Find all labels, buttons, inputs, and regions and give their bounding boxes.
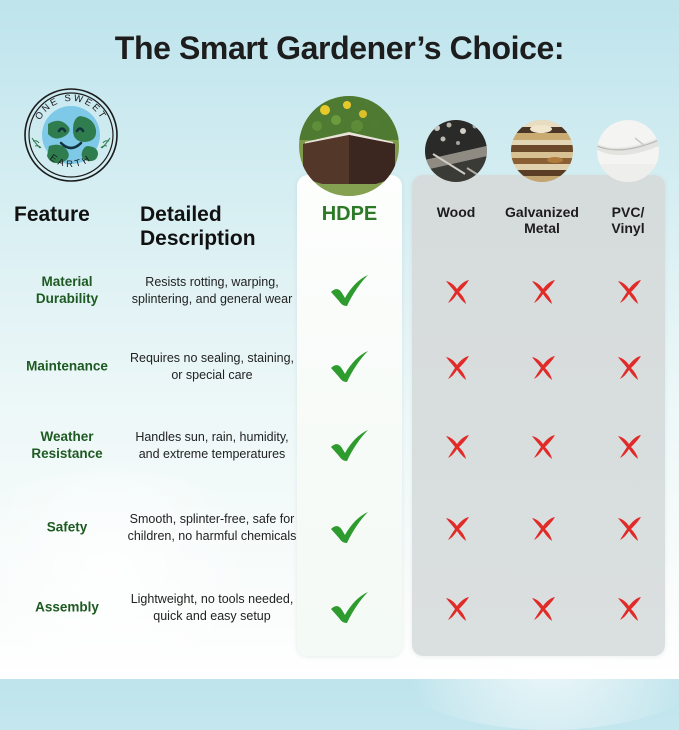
cross-icon — [614, 593, 644, 623]
column-header-hdpe: HDPE — [297, 203, 402, 226]
cell-metal-cross — [514, 431, 572, 461]
cell-wood-cross — [428, 593, 486, 623]
cross-icon — [614, 276, 644, 306]
cell-pvc-cross — [600, 431, 658, 461]
check-icon — [328, 590, 372, 626]
cross-icon — [528, 352, 558, 382]
check-icon — [328, 273, 372, 309]
row-description: Resists rotting, warping, splintering, a… — [126, 274, 298, 308]
check-icon — [328, 349, 372, 385]
pvc-vinyl-photo — [597, 120, 659, 182]
table-row: Weather ResistanceHandles sun, rain, hum… — [0, 410, 679, 482]
cross-icon — [442, 513, 472, 543]
table-row: SafetySmooth, splinter-free, safe for ch… — [0, 492, 679, 564]
cell-pvc-cross — [600, 593, 658, 623]
cross-icon — [528, 513, 558, 543]
column-header-galvanized-metal: Galvanized Metal — [499, 204, 585, 236]
cell-pvc-cross — [600, 352, 658, 382]
cross-icon — [528, 431, 558, 461]
row-feature-label: Maintenance — [8, 359, 126, 376]
cell-metal-cross — [514, 276, 572, 306]
cell-metal-cross — [514, 513, 572, 543]
cell-hdpe-check — [320, 428, 380, 464]
cell-metal-cross — [514, 352, 572, 382]
cell-hdpe-check — [320, 510, 380, 546]
infographic-canvas: The Smart Gardener’s Choice: ONE SWEET E… — [0, 0, 679, 679]
galvanized-rust-photo — [511, 120, 573, 182]
column-header-pvc-vinyl: PVC/ Vinyl — [585, 204, 671, 236]
row-feature-label: Weather Resistance — [8, 429, 126, 463]
cell-pvc-cross — [600, 513, 658, 543]
cross-icon — [442, 593, 472, 623]
cross-icon — [614, 513, 644, 543]
row-description: Handles sun, rain, humidity, and extreme… — [126, 429, 298, 463]
check-icon — [328, 510, 372, 546]
row-description: Requires no sealing, staining, or specia… — [126, 350, 298, 384]
row-feature-label: Safety — [8, 520, 126, 537]
cross-icon — [528, 593, 558, 623]
header-detailed-description: Detailed Description — [140, 203, 285, 250]
table-row: Material DurabilityResists rotting, warp… — [0, 255, 679, 327]
wood-rot-photo — [425, 120, 487, 182]
cross-icon — [614, 352, 644, 382]
cell-hdpe-check — [320, 349, 380, 385]
table-row: MaintenanceRequires no sealing, staining… — [0, 331, 679, 403]
brand-logo: ONE SWEET EARTH — [22, 86, 120, 184]
row-description: Lightweight, no tools needed, quick and … — [126, 591, 298, 625]
cell-hdpe-check — [320, 273, 380, 309]
page-title: The Smart Gardener’s Choice: — [0, 30, 679, 67]
cell-wood-cross — [428, 352, 486, 382]
check-icon — [328, 428, 372, 464]
cross-icon — [442, 352, 472, 382]
table-row: AssemblyLightweight, no tools needed, qu… — [0, 572, 679, 644]
row-description: Smooth, splinter-free, safe for children… — [126, 511, 298, 545]
cross-icon — [442, 276, 472, 306]
cell-metal-cross — [514, 593, 572, 623]
cell-wood-cross — [428, 276, 486, 306]
column-header-wood: Wood — [413, 204, 499, 220]
cell-wood-cross — [428, 513, 486, 543]
cell-hdpe-check — [320, 590, 380, 626]
cross-icon — [528, 276, 558, 306]
cell-wood-cross — [428, 431, 486, 461]
header-feature: Feature — [14, 203, 124, 227]
hdpe-planter-photo — [299, 96, 399, 196]
row-feature-label: Assembly — [8, 600, 126, 617]
cross-icon — [442, 431, 472, 461]
row-feature-label: Material Durability — [8, 274, 126, 308]
cell-pvc-cross — [600, 276, 658, 306]
cross-icon — [614, 431, 644, 461]
